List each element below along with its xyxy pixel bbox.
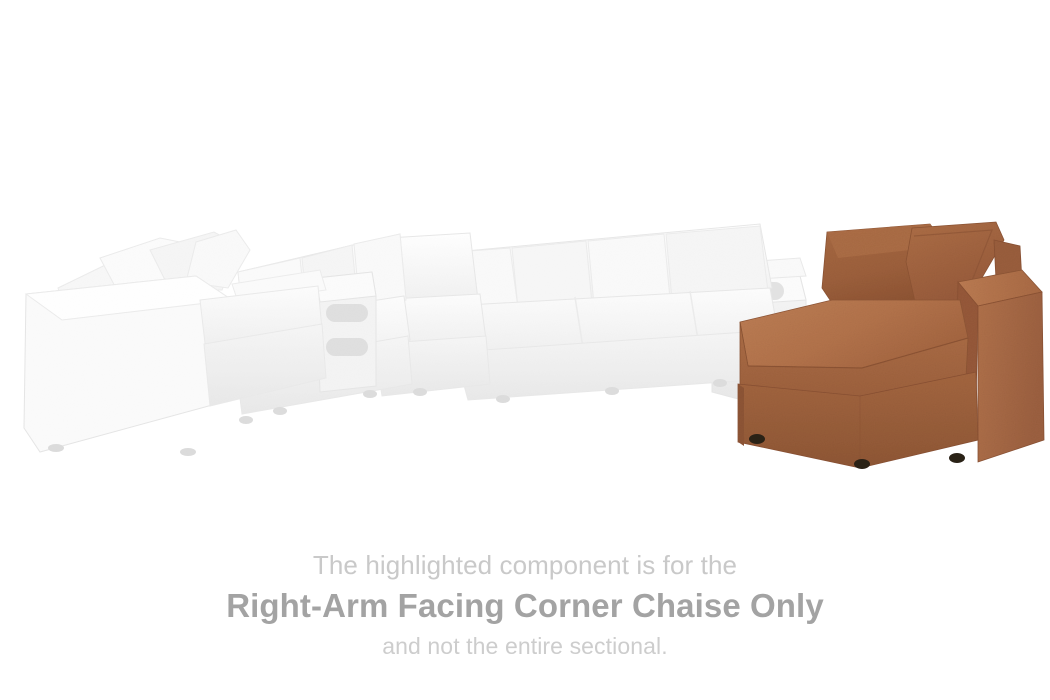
product-highlight-screen: The highlighted component is for the Rig…	[0, 0, 1050, 700]
ghost-back-run-right	[450, 224, 780, 403]
caption-line-disclaimer: and not the entire sectional.	[0, 631, 1050, 661]
sectional-illustration	[0, 0, 1050, 520]
chaise-foot	[854, 459, 870, 469]
chaise-foot	[949, 453, 965, 463]
caption-line-component-name: Right-Arm Facing Corner Chaise Only	[0, 585, 1050, 627]
chaise-foot	[749, 434, 765, 444]
caption-block: The highlighted component is for the Rig…	[0, 548, 1050, 661]
caption-line-intro: The highlighted component is for the	[0, 548, 1050, 582]
ghosted-sectional	[24, 224, 806, 456]
